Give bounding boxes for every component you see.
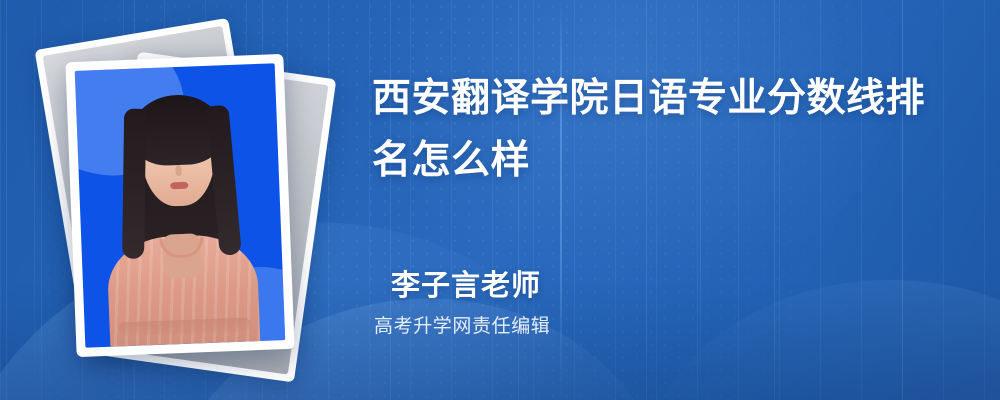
author-portrait-illustration <box>75 63 285 347</box>
author-role: 高考升学网责任编辑 <box>372 312 892 342</box>
portrait-hair-side-left <box>122 109 146 259</box>
author-avatar <box>75 63 285 347</box>
page-title-line-2: 怎么样 <box>412 139 531 182</box>
article-cover-banner: 西安翻译学院日语专业分数线排名怎么样 李子言老师 高考升学网责任编辑 <box>0 0 1000 400</box>
photo-card-front <box>65 54 294 357</box>
portrait-mouth <box>170 182 188 190</box>
page-title: 西安翻译学院日语专业分数线排名怎么样 <box>372 68 962 192</box>
portrait-nose <box>175 165 181 176</box>
author-name: 李子言老师 <box>372 266 892 306</box>
author-byline: 李子言老师 高考升学网责任编辑 <box>372 266 892 342</box>
cover-content: 西安翻译学院日语专业分数线排名怎么样 李子言老师 高考升学网责任编辑 <box>372 0 972 400</box>
author-photo-stack <box>52 28 342 373</box>
